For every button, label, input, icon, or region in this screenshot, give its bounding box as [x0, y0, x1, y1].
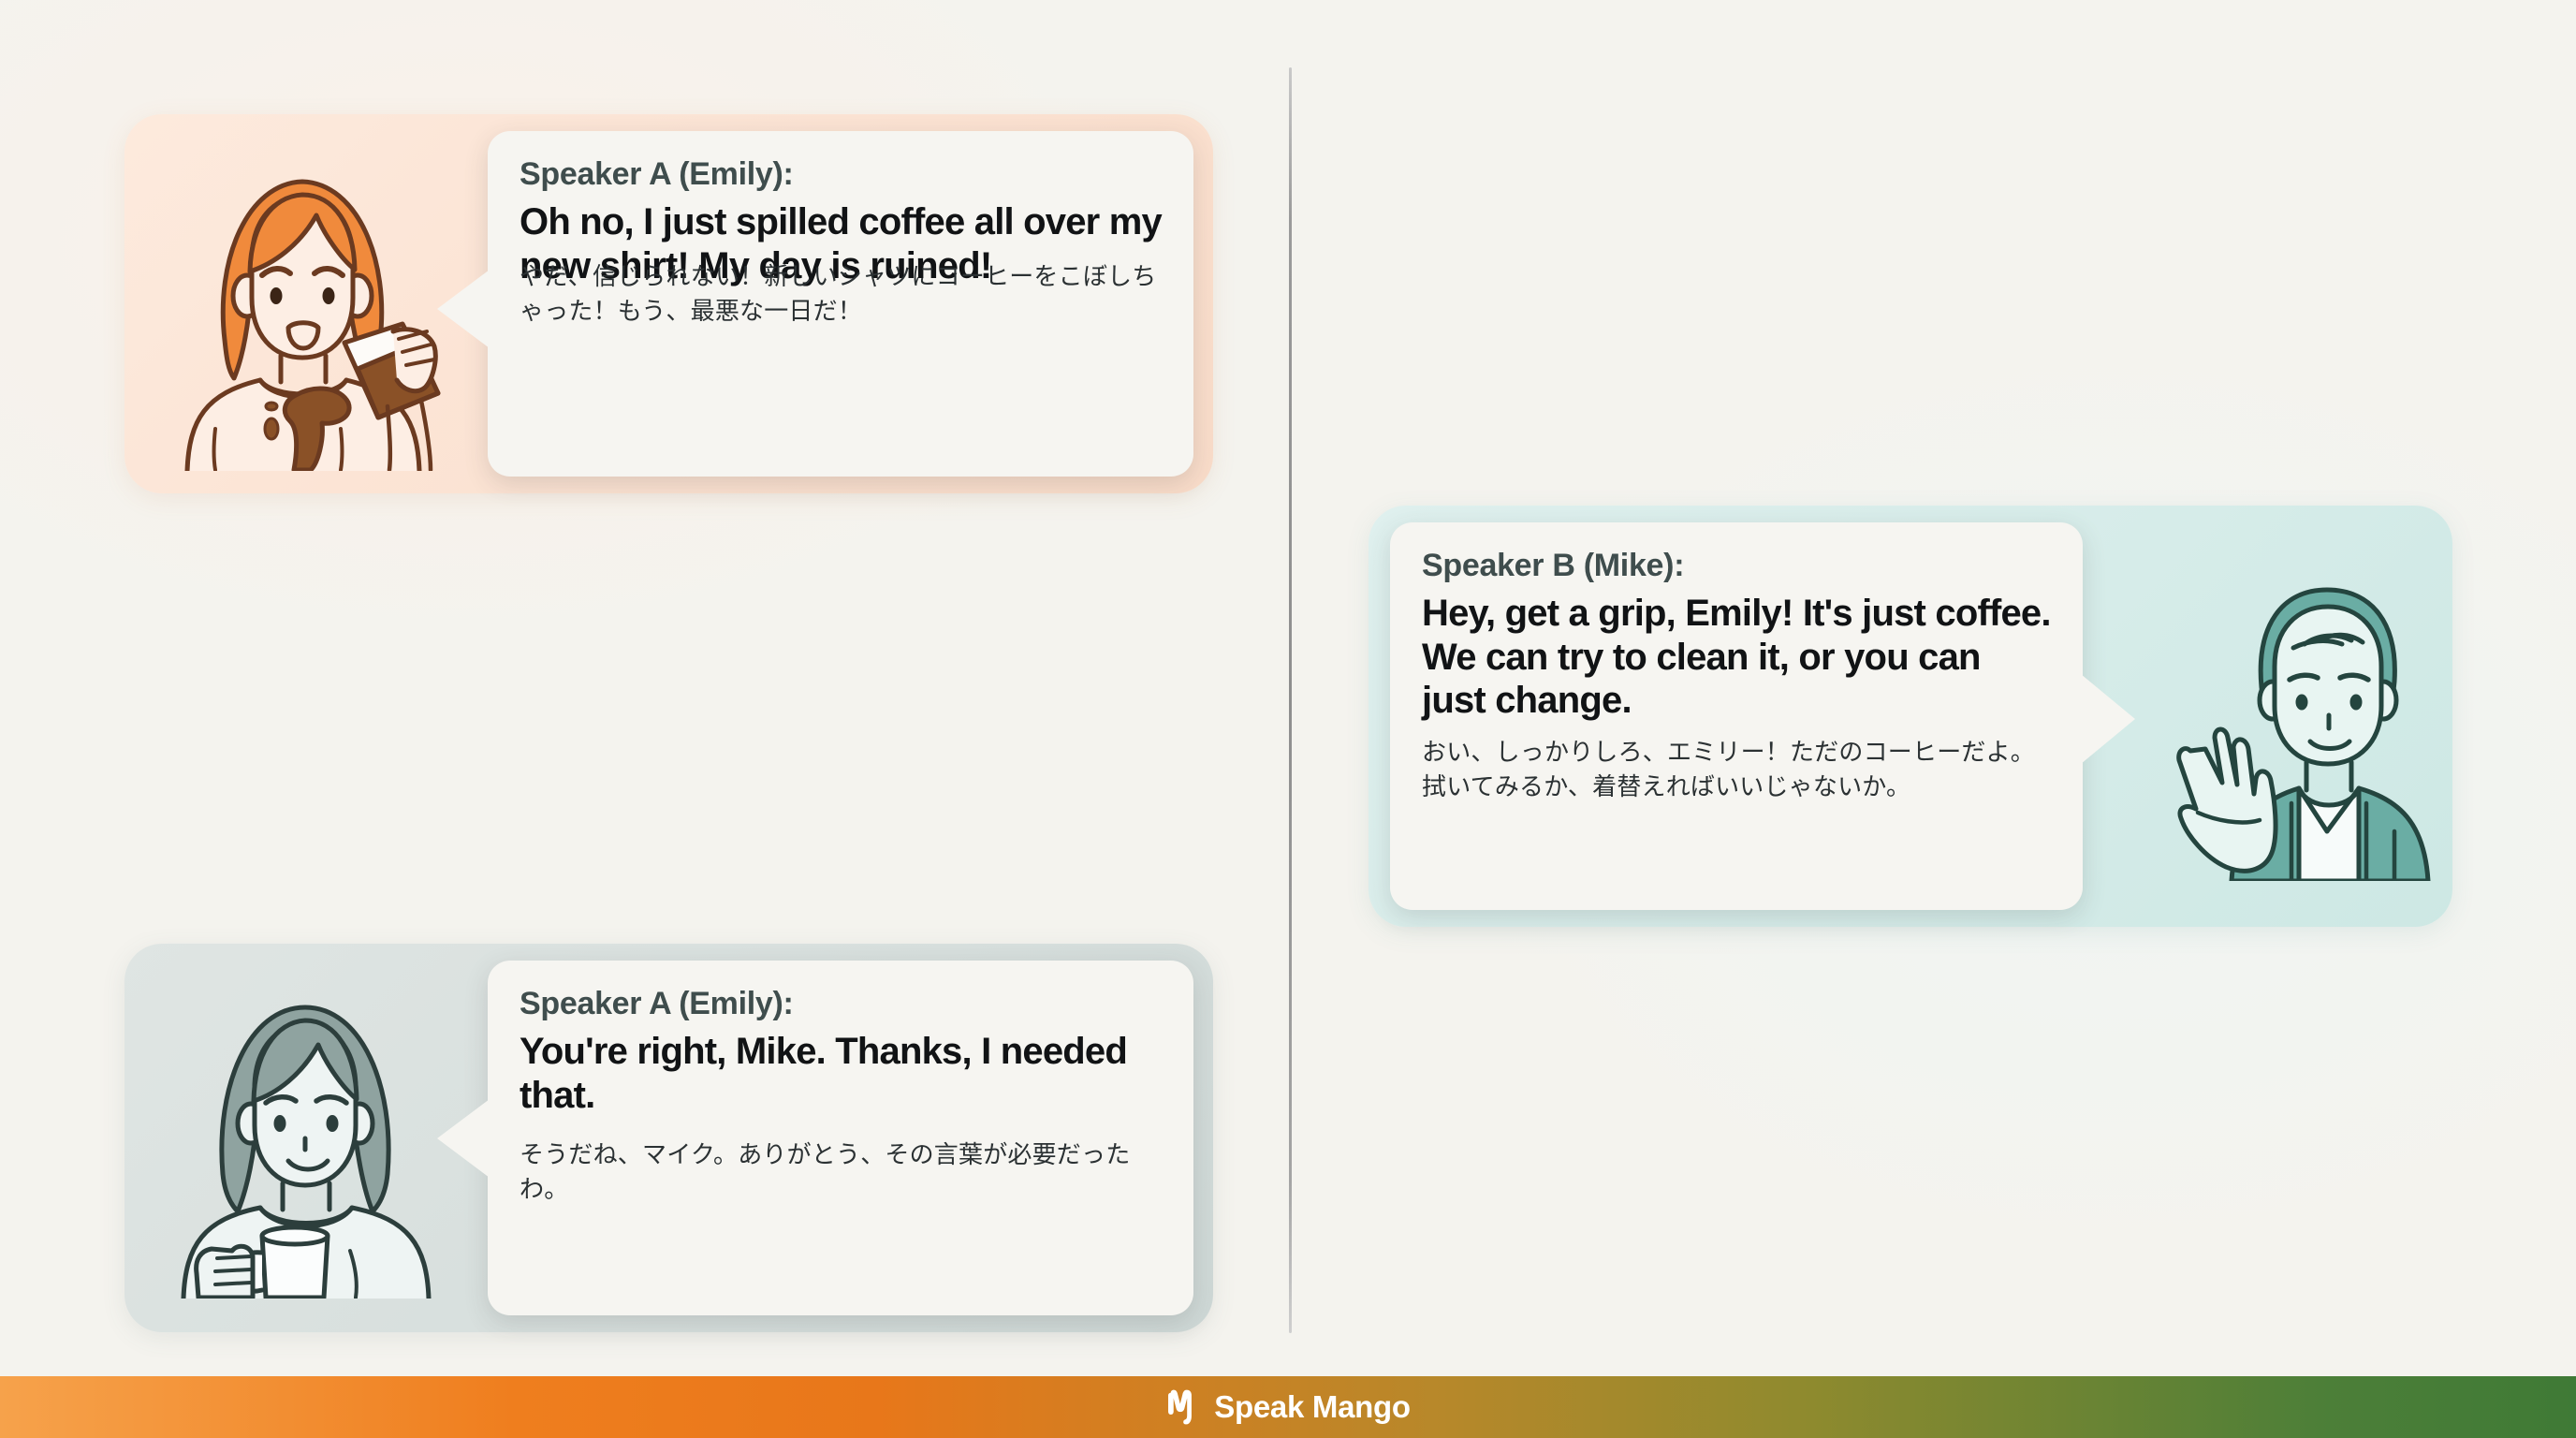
- vertical-divider: [1289, 67, 1292, 1333]
- bubble-tail-right-2: [2081, 674, 2135, 764]
- speaker-label-3: Speaker A (Emily):: [520, 985, 1162, 1022]
- english-text-3: You're right, Mike. Thanks, I needed tha…: [520, 1030, 1162, 1117]
- conversation-stage: Speaker A (Emily): Oh no, I just spilled…: [0, 0, 2576, 1376]
- emily-holding-mug-avatar: [157, 976, 447, 1299]
- japanese-text-2: おい、しっかりしろ、エミリー！ただのコーヒーだよ。拭いてみるか、着替えればいいじ…: [1422, 735, 2051, 804]
- english-text-2: Hey, get a grip, Emily! It's just coffee…: [1422, 592, 2051, 722]
- brand-name: Speak Mango: [1214, 1389, 1410, 1425]
- speech-bubble-2[interactable]: Speaker B (Mike): Hey, get a grip, Emily…: [1390, 522, 2083, 910]
- mike-waving-avatar: [2162, 558, 2452, 881]
- mango-m-logo-icon: [1165, 1388, 1201, 1426]
- japanese-text-1: やだ、信じられない！新しいシャツにコーヒーをこぼしちゃった！もう、最悪な一日だ！: [520, 259, 1162, 329]
- speech-bubble-3[interactable]: Speaker A (Emily): You're right, Mike. T…: [488, 961, 1193, 1315]
- bubble-tail-left-1: [437, 270, 490, 348]
- bubble-tail-left-3: [437, 1099, 490, 1178]
- footer-brand-group: Speak Mango: [1165, 1388, 1410, 1426]
- speaker-label-2: Speaker B (Mike):: [1422, 547, 2051, 584]
- speaker-label-1: Speaker A (Emily):: [520, 155, 1162, 193]
- speech-bubble-1[interactable]: Speaker A (Emily): Oh no, I just spilled…: [488, 131, 1193, 477]
- emily-spilling-coffee-avatar: [157, 148, 447, 471]
- japanese-text-3: そうだね、マイク。ありがとう、その言葉が必要だったわ。: [520, 1137, 1162, 1207]
- brand-footer-bar: Speak Mango: [0, 1376, 2576, 1438]
